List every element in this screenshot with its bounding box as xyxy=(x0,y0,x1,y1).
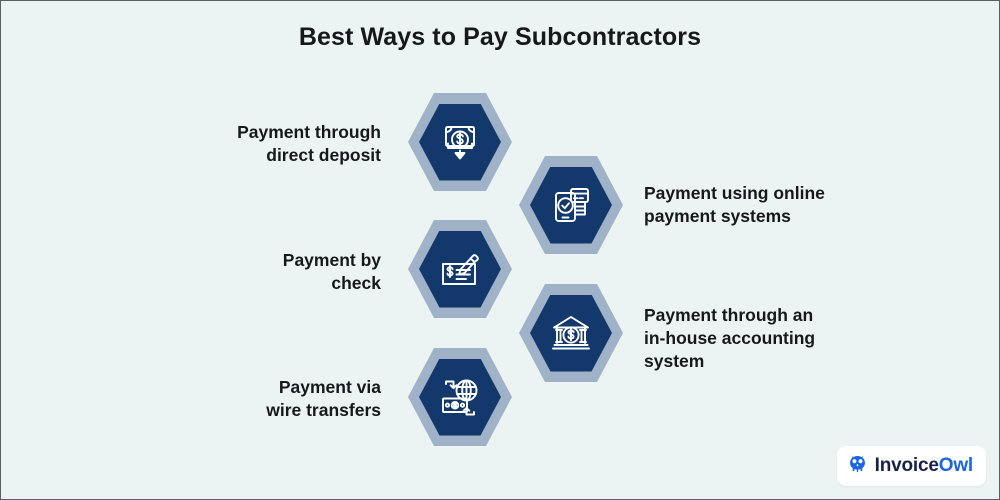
logo-text-owl: Owl xyxy=(939,455,973,476)
label-line: in-house accounting xyxy=(644,327,884,350)
label-line: direct deposit xyxy=(161,144,381,167)
label-line: system xyxy=(644,350,884,373)
label-in-house-accounting: Payment through an in-house accounting s… xyxy=(644,304,884,373)
label-check: Payment by check xyxy=(161,249,381,295)
label-line: Payment via xyxy=(161,376,381,399)
label-line: check xyxy=(161,272,381,295)
label-direct-deposit: Payment through direct deposit xyxy=(161,121,381,167)
hex-badge-online-payment-systems xyxy=(519,156,623,254)
mobile-card-check-icon xyxy=(547,181,595,229)
logo-text: InvoiceOwl xyxy=(875,455,973,477)
hex-badge-in-house-accounting xyxy=(519,284,623,382)
hex-badge-direct-deposit xyxy=(408,93,512,191)
invoiceowl-logo[interactable]: InvoiceOwl xyxy=(837,446,986,486)
hex-badge-wire-transfers xyxy=(408,348,512,446)
label-line: Payment by xyxy=(161,249,381,272)
bank-dollar-icon xyxy=(547,309,595,357)
hex-inner-direct-deposit xyxy=(419,104,501,181)
globe-money-transfer-icon xyxy=(436,373,484,421)
label-line: wire transfers xyxy=(161,399,381,422)
logo-text-invoice: Invoice xyxy=(875,455,939,476)
hex-inner-in-house-accounting xyxy=(530,295,612,372)
hex-badge-check xyxy=(408,220,512,318)
page-title: Best Ways to Pay Subcontractors xyxy=(1,23,999,52)
cheque-pen-icon xyxy=(436,245,484,293)
label-online-payment-systems: Payment using online payment systems xyxy=(644,182,904,228)
hex-inner-wire-transfers xyxy=(419,359,501,436)
label-wire-transfers: Payment via wire transfers xyxy=(161,376,381,422)
owl-icon xyxy=(847,453,868,479)
label-line: Payment using online xyxy=(644,182,904,205)
label-line: Payment through xyxy=(161,121,381,144)
label-line: payment systems xyxy=(644,205,904,228)
hex-inner-check xyxy=(419,231,501,308)
hex-inner-online-payment-systems xyxy=(530,167,612,244)
banknote-download-icon xyxy=(436,118,484,166)
label-line: Payment through an xyxy=(644,304,884,327)
